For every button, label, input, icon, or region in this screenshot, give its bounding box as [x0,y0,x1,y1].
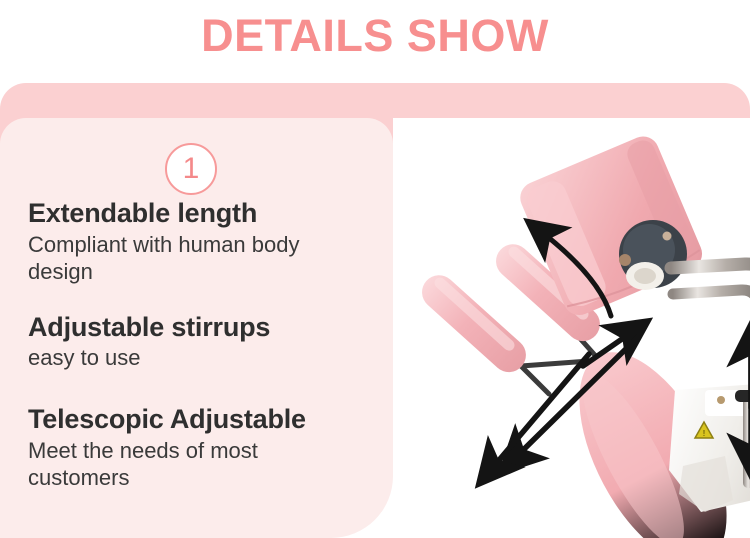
examination-chair-image: ! [393,118,750,538]
feature-item: Telescopic Adjustable Meet the needs of … [28,404,378,492]
step-number-badge: 1 [165,143,217,195]
feature-item: Extendable length Compliant with human b… [28,198,378,286]
feature-subtitle: Meet the needs of most customers [28,438,318,492]
feature-subtitle: Compliant with human body design [28,232,318,286]
feature-title: Telescopic Adjustable [28,404,378,436]
bottom-pink-strip [0,538,750,560]
step-badge-wrapper: 1 [165,143,217,195]
feature-list: Extendable length Compliant with human b… [28,198,378,492]
feature-item: Adjustable stirrups easy to use [28,312,378,373]
hinge-mechanism [619,220,687,290]
page-title: DETAILS SHOW [201,13,549,58]
chrome-frame [671,264,750,366]
feature-subtitle: easy to use [28,345,318,372]
product-photo-pane: ! [393,118,750,538]
svg-text:!: ! [703,429,705,438]
header-band: DETAILS SHOW [0,0,750,83]
details-show-page: DETAILS SHOW [0,0,750,560]
feature-title: Extendable length [28,198,378,230]
feature-title: Adjustable stirrups [28,312,378,344]
